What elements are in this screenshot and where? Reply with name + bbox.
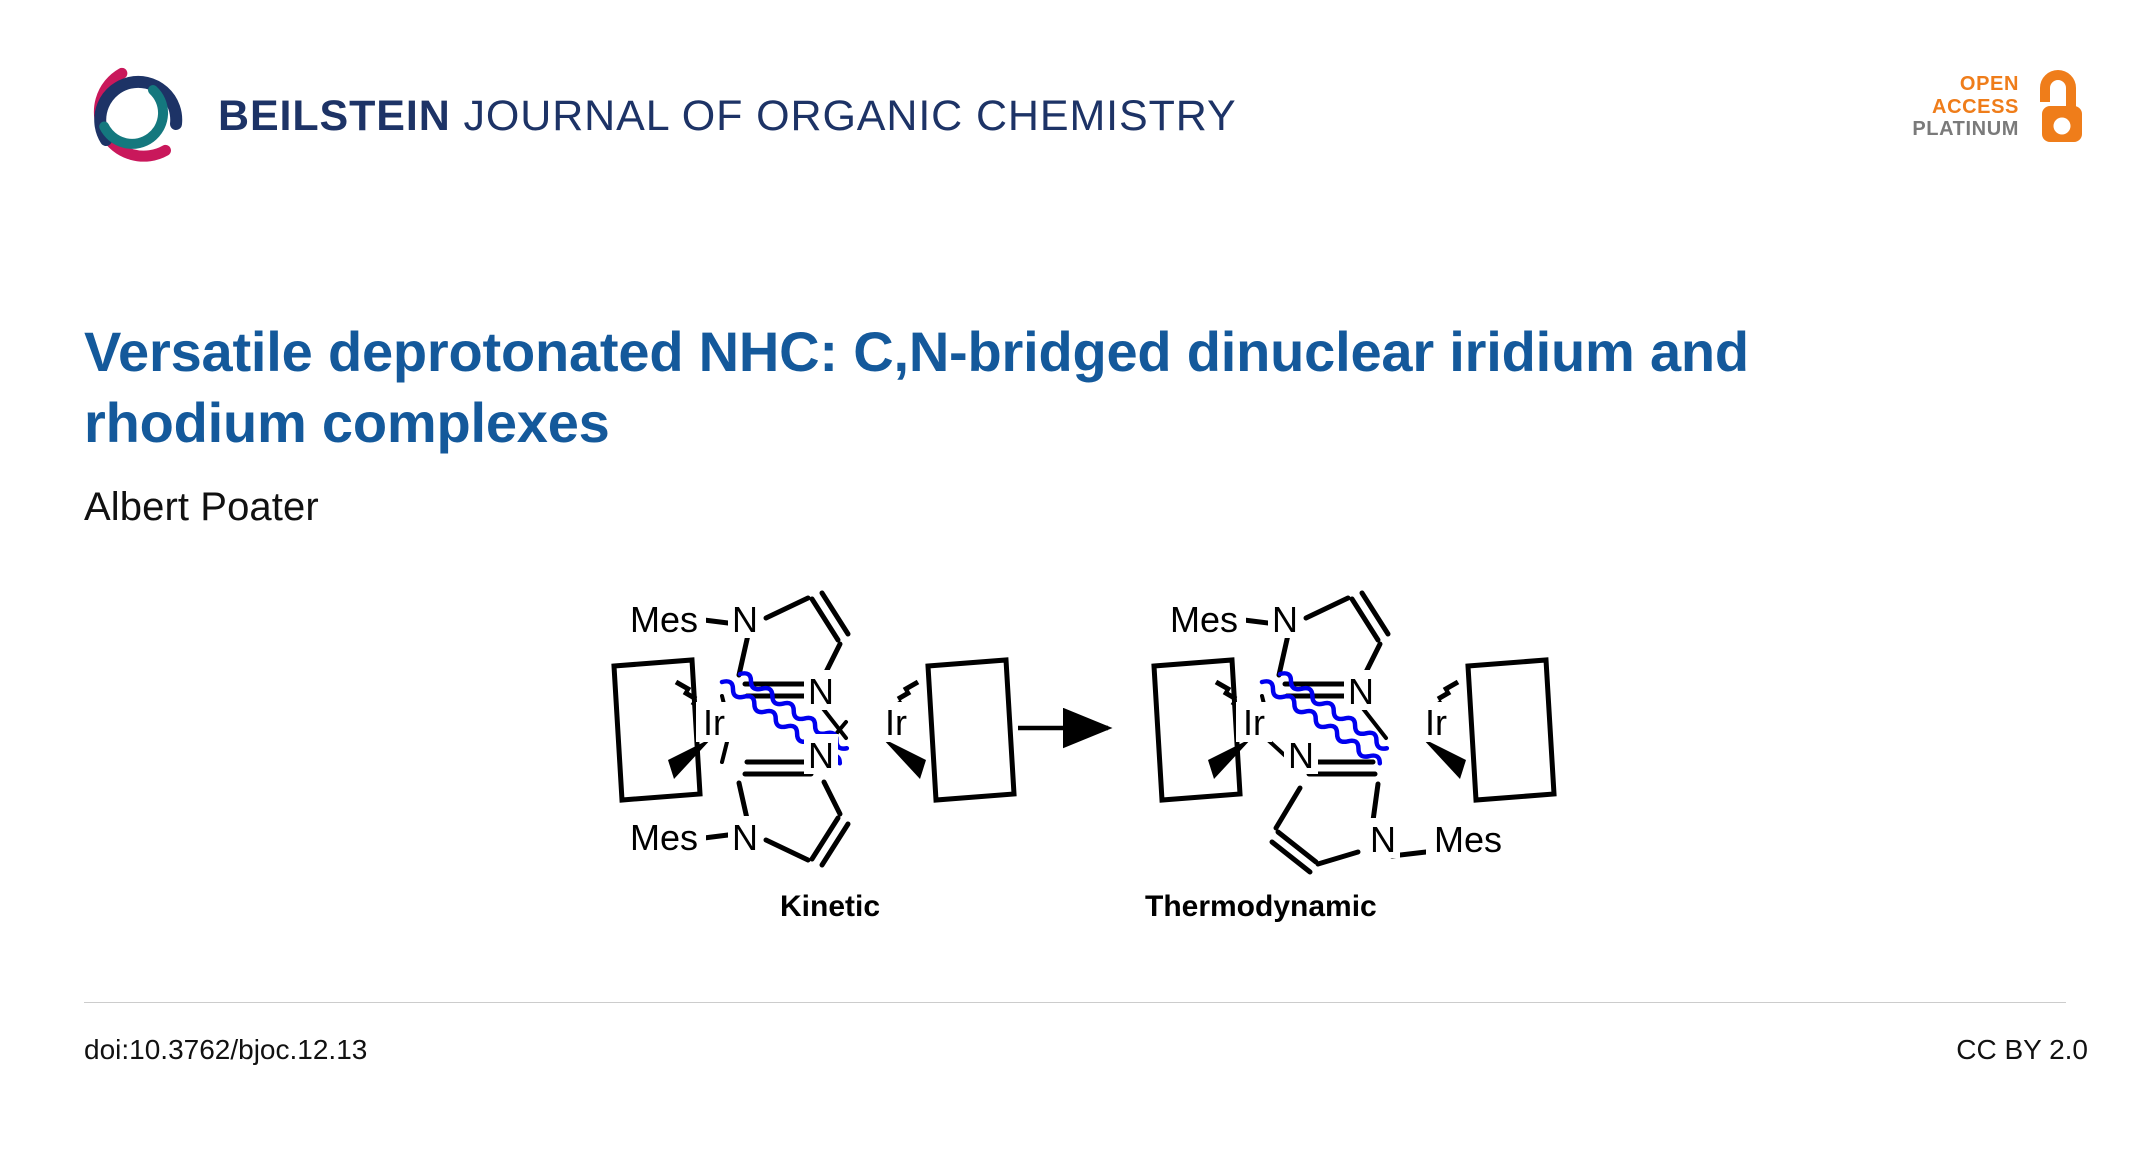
n-label-right-bottom-left: N [1288, 735, 1314, 776]
cod-ligand-right-outer [1154, 660, 1240, 800]
metal-label-left-inner: Ir [885, 702, 907, 743]
metal-label-left-outer: Ir [703, 702, 725, 743]
n-label-left-bottom-right: N [808, 735, 834, 776]
beilstein-spiral-logo-icon [84, 62, 192, 170]
mes-label-right-top: Mes [1170, 599, 1238, 640]
oa-line-platinum: PLATINUM [1912, 118, 2019, 141]
open-access-badge[interactable]: OPEN ACCESS PLATINUM [1912, 68, 2088, 146]
wordmark-beilstein: BEILSTEIN [218, 92, 451, 140]
bottom-imidazolylidene-left [704, 762, 848, 865]
solid-wedge-right-inner [1422, 738, 1466, 779]
thermodynamic-complex-structure: Ir Ir N N N N Mes Mes [1154, 593, 1554, 872]
metal-label-right-outer: Ir [1243, 702, 1265, 743]
oa-line-open: OPEN [1912, 73, 2019, 96]
bottom-imidazolylidene-right [1272, 762, 1426, 872]
n-label-right-bottom-right: N [1370, 819, 1396, 860]
n-label-left-top-right: N [808, 671, 834, 712]
mes-label-left-bottom: Mes [630, 817, 698, 858]
open-padlock-icon [2028, 68, 2088, 146]
wordmark-subtitle: JOURNAL OF ORGANIC CHEMISTRY [451, 92, 1237, 140]
mes-label-right-bottom: Mes [1434, 819, 1502, 860]
scheme-label-kinetic: Kinetic [780, 890, 880, 924]
n-label-right-top-left: N [1272, 599, 1298, 640]
cod-ligand-left-inner [928, 660, 1014, 800]
article-title: Versatile deprotonated NHC: C,N-bridged … [84, 316, 1974, 458]
journal-wordmark: BEILSTEIN JOURNAL OF ORGANIC CHEMISTRY [218, 95, 1237, 138]
scheme-label-thermodynamic: Thermodynamic [1145, 890, 1377, 924]
graphical-abstract-page: BEILSTEIN JOURNAL OF ORGANIC CHEMISTRY O… [0, 0, 2150, 1154]
article-author: Albert Poater [84, 485, 319, 530]
license-text[interactable]: CC BY 2.0 [1956, 1034, 2088, 1066]
open-access-text: OPEN ACCESS PLATINUM [1912, 73, 2019, 141]
oa-line-access: ACCESS [1912, 96, 2019, 119]
n-label-left-bottom-left: N [732, 817, 758, 858]
scheme-captions: Kinetic Thermodynamic [600, 890, 1560, 936]
journal-brand[interactable]: BEILSTEIN JOURNAL OF ORGANIC CHEMISTRY [84, 62, 1237, 170]
cod-ligand-right-inner [1468, 660, 1554, 800]
kinetic-complex-structure: Ir Ir N N N N Mes Mes [614, 593, 1014, 865]
solid-wedge-left-inner [882, 738, 926, 779]
footer-divider [84, 1002, 2066, 1003]
n-label-left-top-left: N [732, 599, 758, 640]
mes-label-left-top: Mes [630, 599, 698, 640]
doi-text[interactable]: doi:10.3762/bjoc.12.13 [84, 1034, 367, 1066]
page-header: BEILSTEIN JOURNAL OF ORGANIC CHEMISTRY O… [0, 0, 2150, 200]
n-label-right-top-right: N [1348, 671, 1374, 712]
reaction-scheme-graphic: Ir Ir N N N N Mes Mes [600, 570, 1560, 930]
metal-label-right-inner: Ir [1425, 702, 1447, 743]
cod-ligand-left-outer [614, 660, 700, 800]
